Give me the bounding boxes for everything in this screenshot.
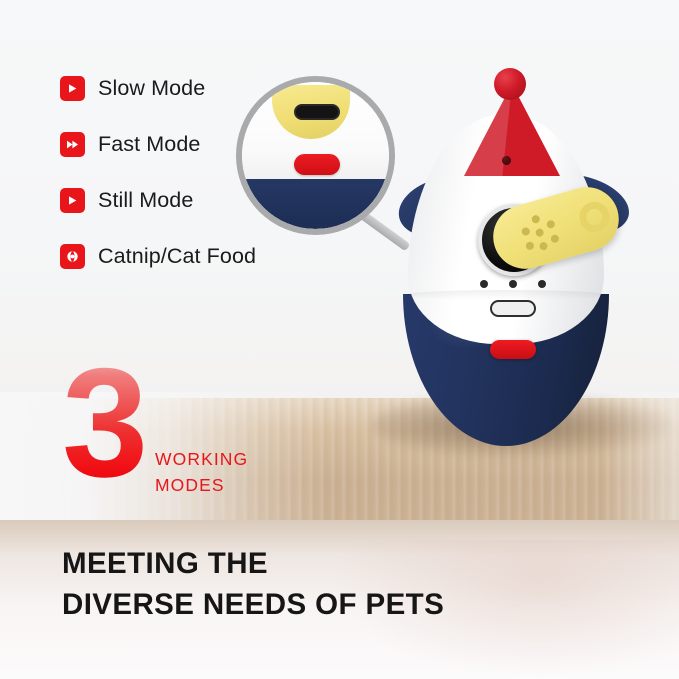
product-seam xyxy=(404,290,608,300)
headline-line2: DIVERSE NEEDS OF PETS xyxy=(62,584,444,625)
stat-caption-line2: MODES xyxy=(155,472,248,498)
feature-label: Still Mode xyxy=(98,188,193,213)
feature-label: Slow Mode xyxy=(98,76,205,101)
feature-label: Catnip/Cat Food xyxy=(98,244,256,269)
usb-c-port-icon xyxy=(294,104,340,120)
magnifier-content xyxy=(242,82,389,229)
indicator-dot xyxy=(480,280,488,288)
feature-label: Fast Mode xyxy=(98,132,200,157)
catnip-aperture-icon xyxy=(60,244,85,269)
hat-ball-top xyxy=(494,68,526,100)
stat-number: 3 xyxy=(62,345,148,500)
indicator-dots xyxy=(480,280,546,288)
power-button-icon xyxy=(490,340,536,359)
headline: MEETING THE DIVERSE NEEDS OF PETS xyxy=(62,543,444,625)
headline-line1: MEETING THE xyxy=(62,543,444,584)
catnip-perforations xyxy=(516,210,562,255)
catnip-tag-loop xyxy=(576,198,613,235)
stat-caption: WORKING MODES xyxy=(155,446,248,498)
stat-caption-line1: WORKING xyxy=(155,446,248,472)
fast-forward-icon xyxy=(60,132,85,157)
hat-sensor-dot xyxy=(502,156,511,165)
power-button-icon xyxy=(294,154,340,175)
zoom-body-navy xyxy=(242,179,389,229)
infographic-canvas: Slow Mode Fast Mode Still Mode xyxy=(0,0,679,679)
magnifier-lens-ring xyxy=(236,76,395,235)
indicator-dot xyxy=(538,280,546,288)
magnifier-callout xyxy=(236,76,398,276)
play-icon xyxy=(60,76,85,101)
product-illustration xyxy=(380,68,650,448)
indicator-dot xyxy=(509,280,517,288)
usb-c-port-icon xyxy=(490,300,536,317)
play-icon xyxy=(60,188,85,213)
